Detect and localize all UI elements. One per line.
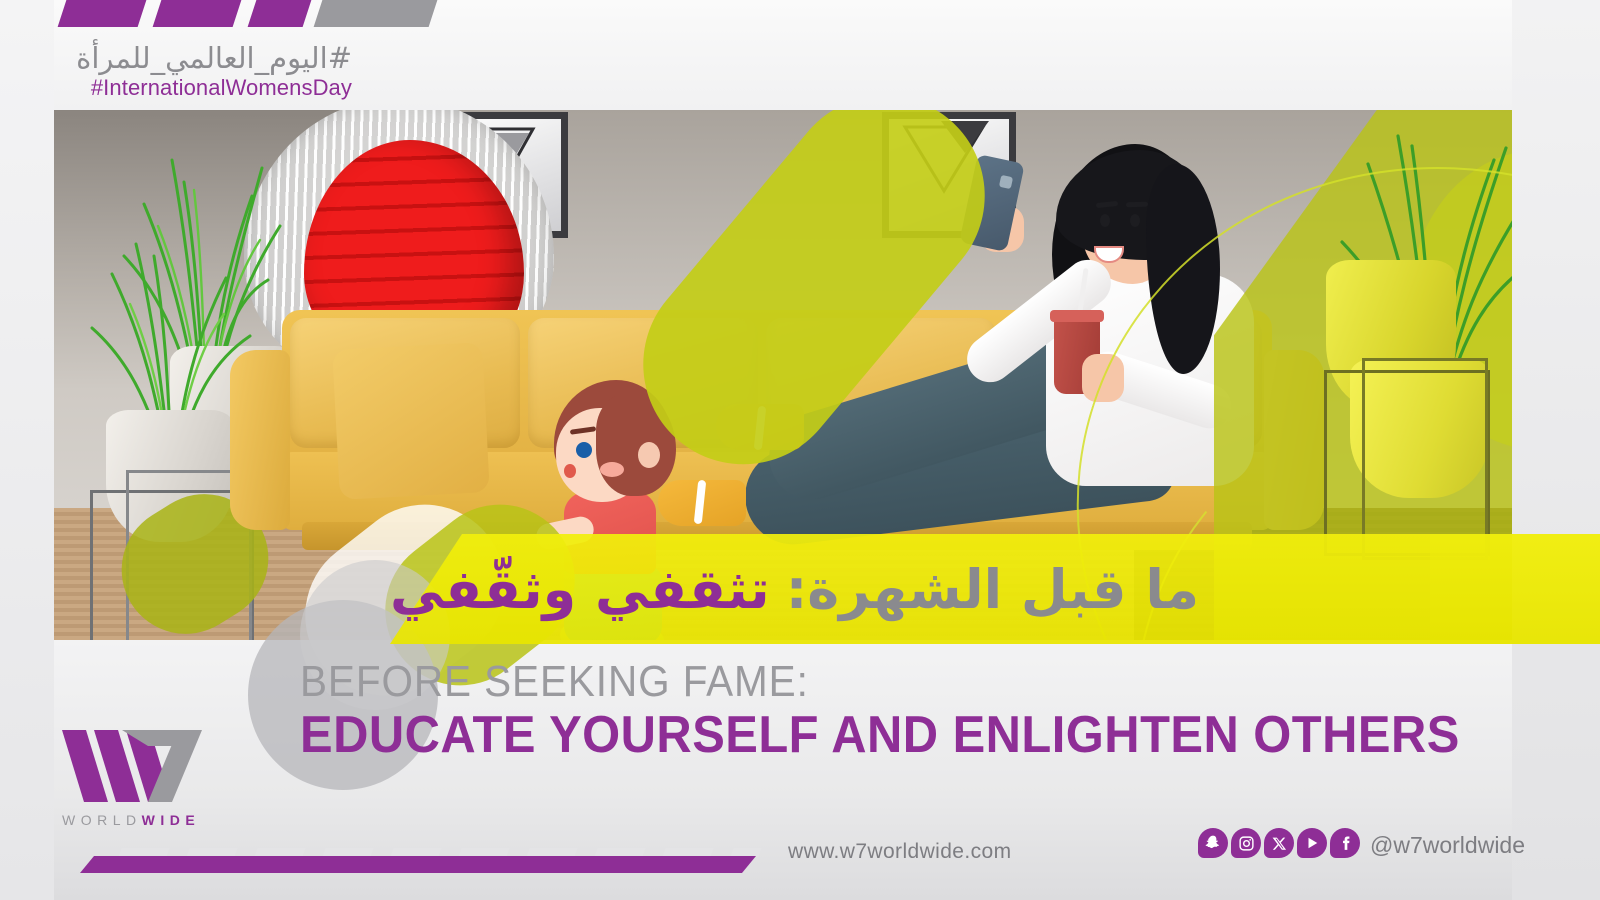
drink-cup-lid bbox=[1050, 310, 1104, 322]
top-bar-gray bbox=[314, 0, 438, 27]
right-margin bbox=[1512, 0, 1600, 900]
website-url[interactable]: www.w7worldwide.com bbox=[788, 840, 1012, 864]
sofa-pillow bbox=[332, 342, 490, 500]
toddler-mouth bbox=[564, 464, 576, 478]
left-margin bbox=[0, 0, 54, 900]
arabic-headline-purple: تثقفي وثقّفي bbox=[390, 558, 770, 621]
top-bar-decor bbox=[0, 0, 1600, 30]
phone-camera-icon bbox=[999, 175, 1013, 189]
social-icons bbox=[1198, 828, 1360, 858]
english-headline-purple: EDUCATE YOURSELF AND ENLIGHTEN OTHERS bbox=[300, 708, 1484, 763]
instagram-icon[interactable] bbox=[1231, 828, 1261, 858]
logo-word-wide: WIDE bbox=[142, 812, 201, 828]
woman-brow-2 bbox=[1126, 202, 1148, 208]
hashtag-arabic: #اليوم_العالمي_للمرأة bbox=[0, 42, 352, 75]
youtube-icon[interactable] bbox=[1297, 828, 1327, 858]
footer-purple-bar bbox=[80, 856, 756, 873]
poster-canvas: ما قبل الشهرة: تثقفي وثقّفي BEFORE SEEKI… bbox=[0, 0, 1600, 900]
hashtag-english: #InternationalWomensDay bbox=[0, 76, 352, 100]
arabic-headline: ما قبل الشهرة: تثقفي وثقّفي bbox=[390, 534, 1520, 644]
toddler-cheek bbox=[600, 462, 624, 477]
w7-logo[interactable]: WORLDWIDE bbox=[60, 730, 220, 840]
w7-logo-mark bbox=[60, 730, 220, 808]
toddler-ear bbox=[638, 442, 660, 468]
top-bar-purple-2 bbox=[153, 0, 242, 27]
english-headline: BEFORE SEEKING FAME: EDUCATE YOURSELF AN… bbox=[300, 660, 1560, 763]
toddler-eye bbox=[576, 442, 592, 458]
social-handle[interactable]: @w7worldwide bbox=[1370, 832, 1525, 859]
top-bar-purple-1 bbox=[58, 0, 147, 27]
top-bar-purple-3 bbox=[248, 0, 312, 27]
english-headline-gray: BEFORE SEEKING FAME: bbox=[300, 660, 1459, 704]
arabic-headline-gray: ما قبل الشهرة: bbox=[786, 558, 1199, 621]
snapchat-icon[interactable] bbox=[1198, 828, 1228, 858]
woman-eye-2 bbox=[1130, 214, 1140, 227]
w7-logo-wordmark: WORLDWIDE bbox=[62, 812, 200, 828]
hashtag-block: #اليوم_العالمي_للمرأة #InternationalWome… bbox=[0, 42, 352, 101]
logo-word-world: WORLD bbox=[62, 812, 142, 828]
sofa-arm-left bbox=[230, 350, 290, 530]
woman-eye-1 bbox=[1100, 214, 1110, 227]
facebook-icon[interactable] bbox=[1330, 828, 1360, 858]
x-twitter-icon[interactable] bbox=[1264, 828, 1294, 858]
footer-dash-decor bbox=[118, 848, 761, 857]
